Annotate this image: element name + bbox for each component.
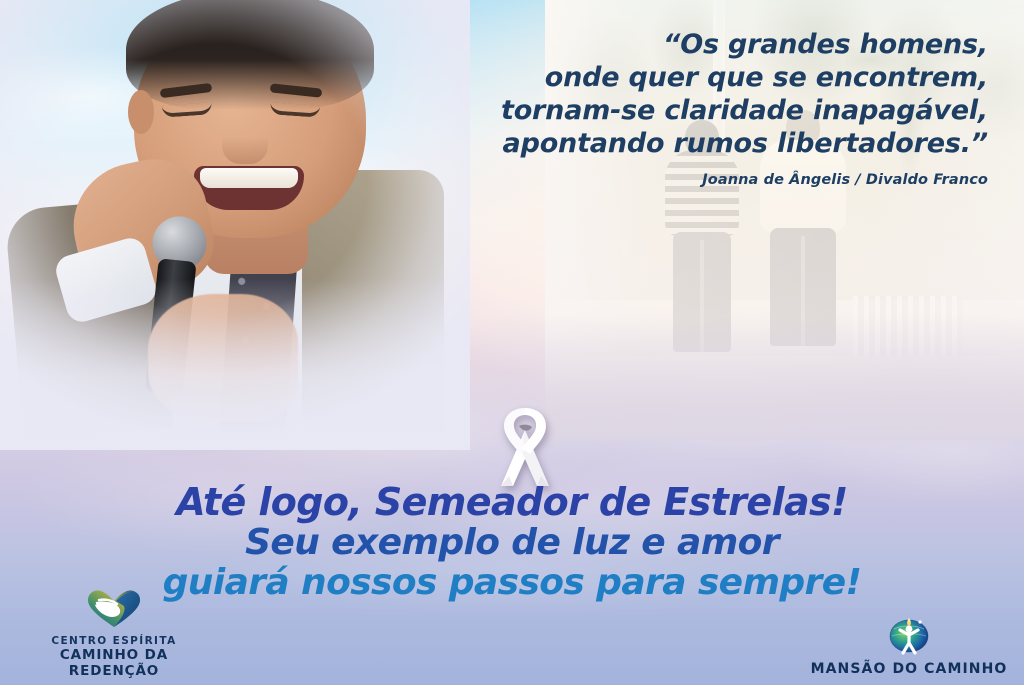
portrait-hand-holding-microphone <box>148 294 298 422</box>
portrait-ear <box>128 90 154 134</box>
quote-attribution: Joanna de Ângelis / Divaldo Franco <box>428 172 988 188</box>
quote-line-2: onde quer que se encontrem, <box>428 61 988 94</box>
logo-centro-espirita: CENTRO ESPÍRITA CAMINHO DA REDENÇÃO <box>14 589 214 679</box>
logo-mansao-do-caminho-label: MANSÃO DO CAMINHO <box>804 661 1014 677</box>
headline-line-1: Até logo, Semeador de Estrelas! <box>0 482 1024 523</box>
globe-figure-logo-icon <box>804 609 1014 659</box>
quote-line-3: tornam-se claridade inapagável, <box>428 94 988 127</box>
tribute-poster: “Os grandes homens, onde quer que se enc… <box>0 0 1024 685</box>
portrait-teeth <box>200 168 298 188</box>
quote-block: “Os grandes homens, onde quer que se enc… <box>428 28 988 188</box>
logo-mansao-do-caminho: MANSÃO DO CAMINHO <box>804 609 1014 677</box>
logo-centro-espirita-line-2: CAMINHO DA REDENÇÃO <box>14 647 214 679</box>
portrait-divaldo-franco <box>8 0 438 434</box>
headline-line-2: Seu exemplo de luz e amor <box>0 523 1024 563</box>
quote-line-4: apontando rumos libertadores.” <box>428 127 988 160</box>
quote-line-1: “Os grandes homens, <box>428 28 988 61</box>
white-ribbon-icon <box>489 406 561 488</box>
portrait-smile <box>194 166 304 210</box>
headline-block: Até logo, Semeador de Estrelas! Seu exem… <box>0 482 1024 603</box>
heart-hands-logo-icon <box>14 589 214 633</box>
logo-centro-espirita-line-1: CENTRO ESPÍRITA <box>14 635 214 647</box>
portrait-nose <box>222 118 268 164</box>
